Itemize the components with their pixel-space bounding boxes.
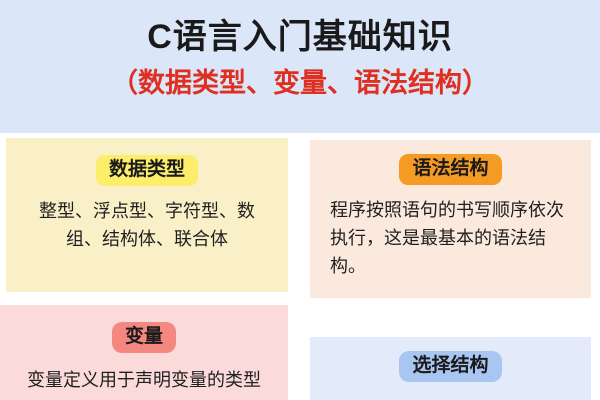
card-body-data-types: 整型、浮点型、字符型、数组、结构体、联合体	[6, 198, 288, 254]
card-body-variable: 变量定义用于声明变量的类型	[0, 367, 288, 395]
card-body-syntax-structure: 程序按照语句的书写顺序依次执行，这是最基本的语法结构。	[310, 197, 591, 281]
card-variable: 变量 变量定义用于声明变量的类型	[0, 305, 288, 400]
badge-data-types: 数据类型	[96, 155, 198, 186]
badge-selection-structure: 选择结构	[399, 351, 501, 382]
page-subtitle: （数据类型、变量、语法结构）	[111, 67, 489, 101]
page-title: C语言入门基础知识	[147, 16, 453, 59]
badge-syntax-structure: 语法结构	[399, 154, 501, 185]
card-data-types: 数据类型 整型、浮点型、字符型、数组、结构体、联合体	[6, 138, 288, 292]
card-syntax-structure: 语法结构 程序按照语句的书写顺序依次执行，这是最基本的语法结构。	[310, 140, 591, 298]
card-selection-structure: 选择结构	[310, 337, 591, 400]
page-header: C语言入门基础知识 （数据类型、变量、语法结构）	[0, 0, 600, 133]
badge-variable: 变量	[112, 322, 176, 353]
